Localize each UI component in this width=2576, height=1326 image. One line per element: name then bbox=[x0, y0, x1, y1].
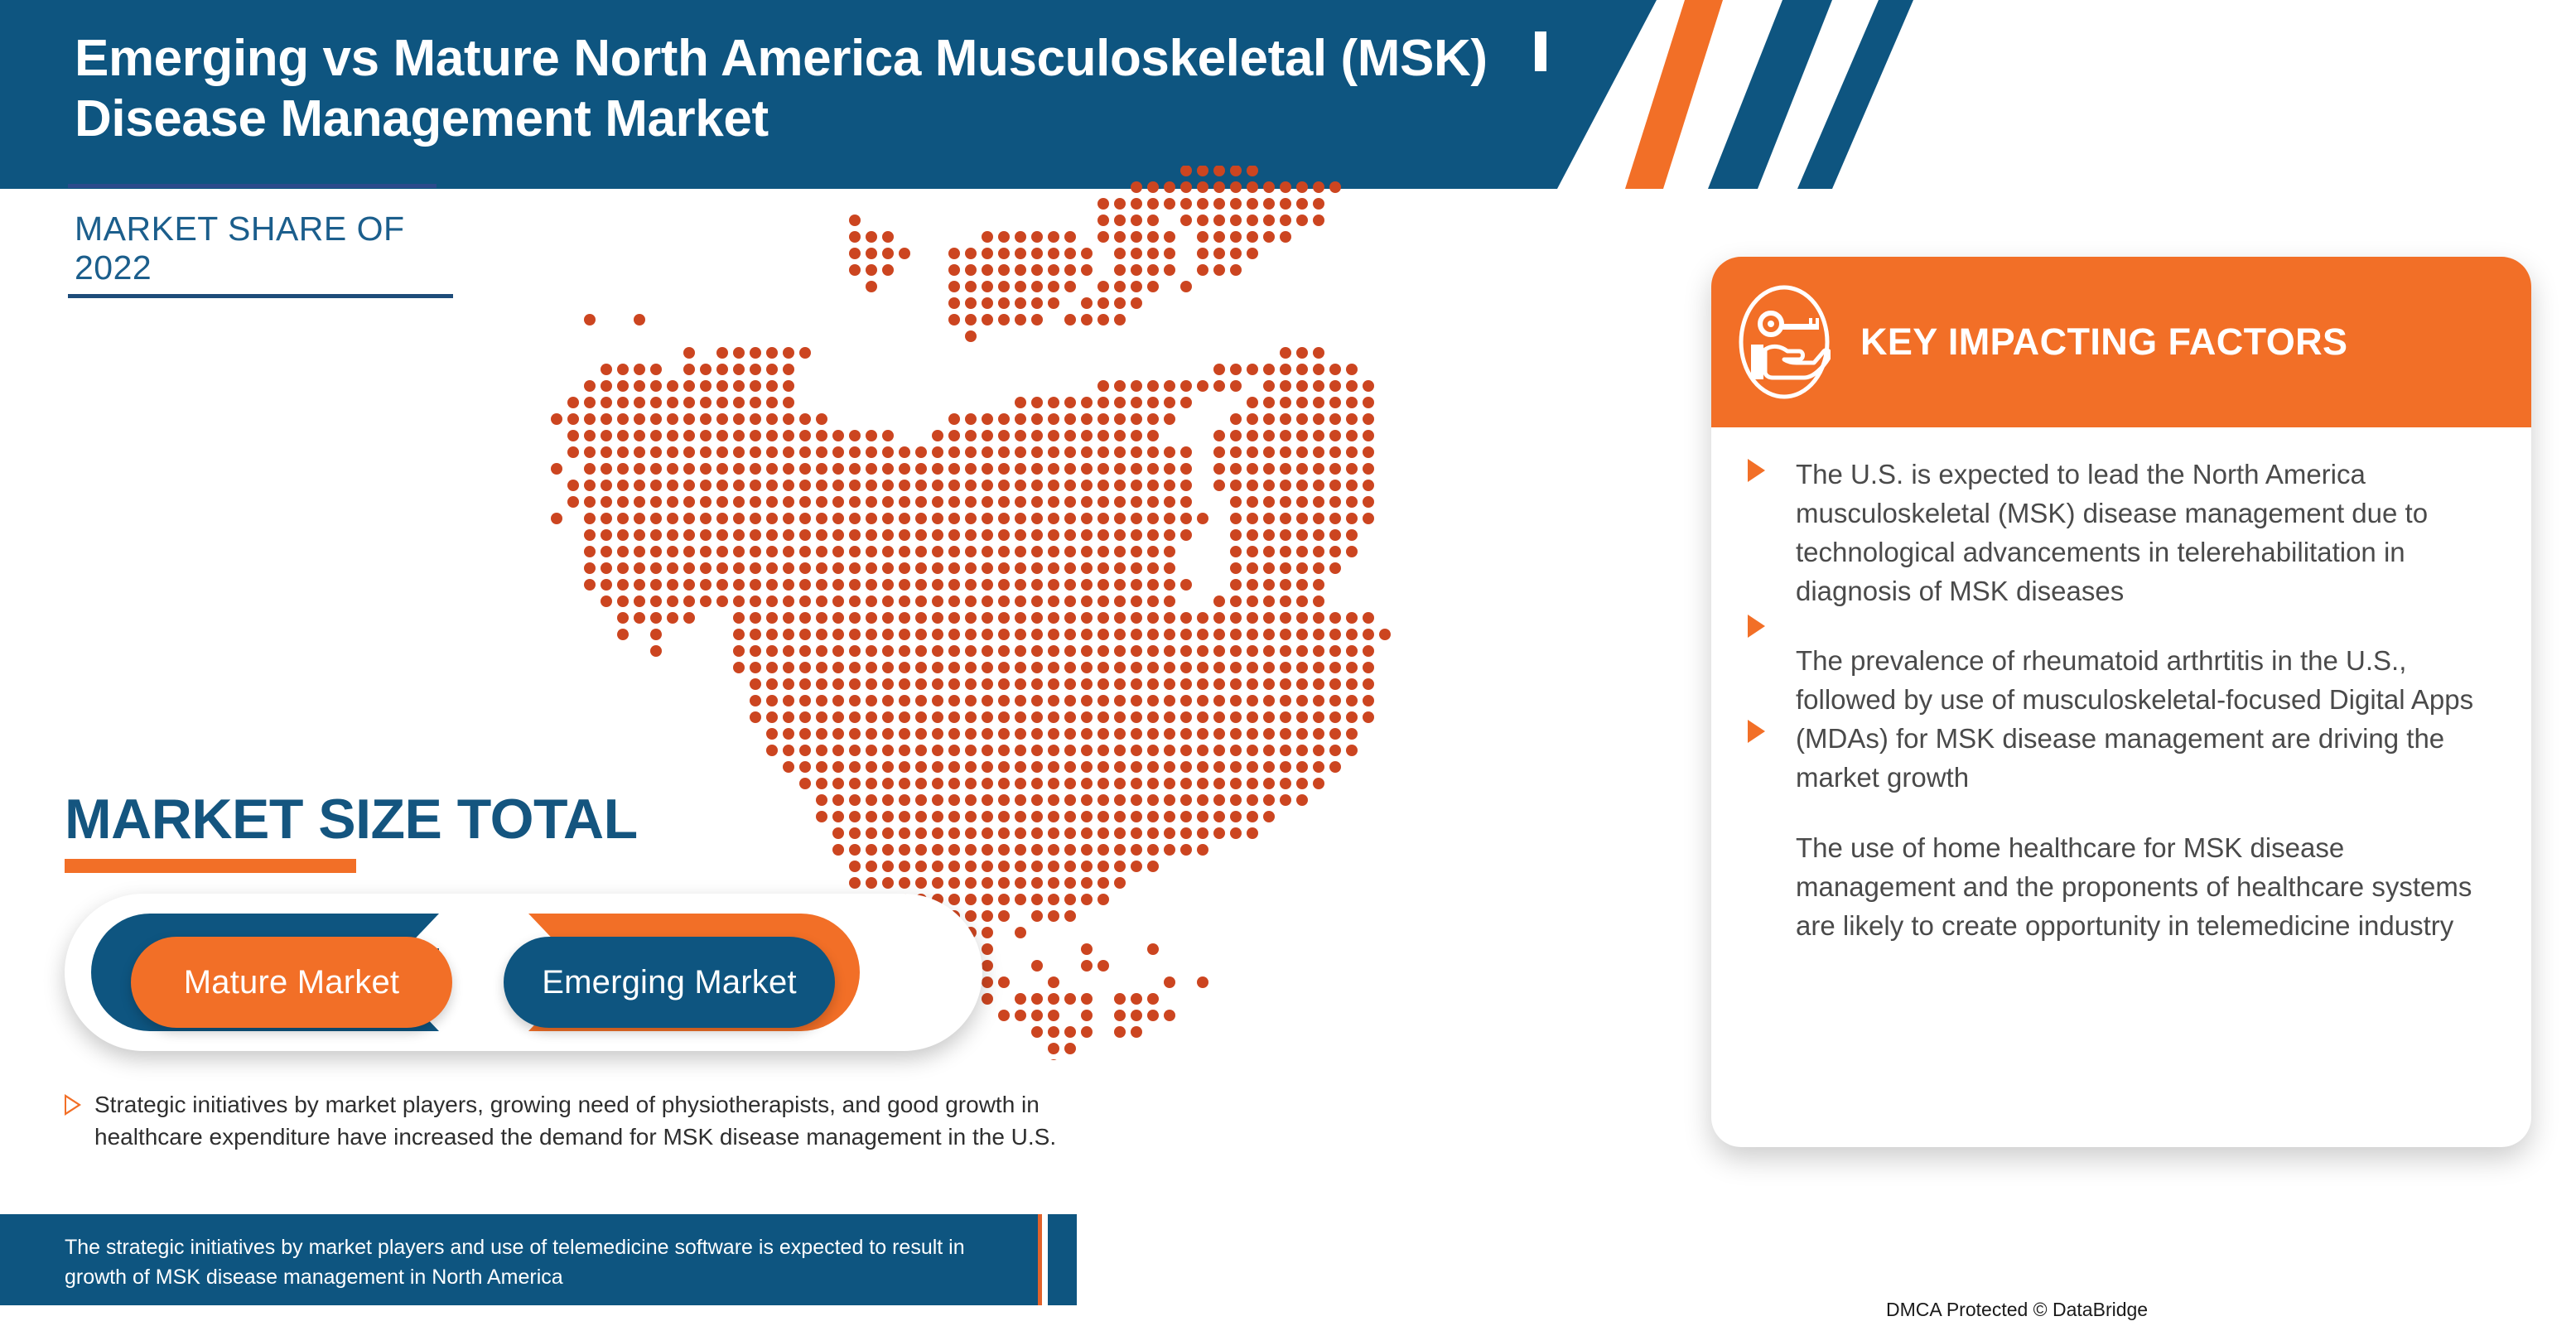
market-size-total-title: MARKET SIZE TOTAL bbox=[65, 791, 976, 847]
triangle-bullet-icon bbox=[65, 1094, 81, 1116]
key-factor-text: The U.S. is expected to lead the North A… bbox=[1796, 456, 2495, 610]
triangle-bullet-icon bbox=[1748, 615, 1765, 638]
page-title: Emerging vs Mature North America Musculo… bbox=[75, 28, 1607, 149]
infographic-canvas: Emerging vs Mature North America Musculo… bbox=[0, 0, 2576, 1326]
footer-text: The strategic initiatives by market play… bbox=[65, 1232, 976, 1293]
key-factor-text: The use of home healthcare for MSK disea… bbox=[1796, 829, 2495, 946]
market-share-label: MARKET SHARE OF 2022 bbox=[68, 188, 457, 294]
market-share-rule-bottom bbox=[68, 294, 453, 298]
key-impacting-factors-body: The U.S. is expected to lead the North A… bbox=[1711, 427, 2531, 976]
market-size-total-block: MARKET SIZE TOTAL bbox=[65, 791, 976, 873]
header-banner: Emerging vs Mature North America Musculo… bbox=[0, 0, 1922, 189]
key-impacting-factors-panel: KEY IMPACTING FACTORS The U.S. is expect… bbox=[1711, 257, 2531, 1147]
emerging-market-group[interactable]: Emerging Market bbox=[495, 914, 860, 1031]
mature-market-pill[interactable]: Mature Market bbox=[131, 937, 452, 1028]
key-in-hand-icon bbox=[1738, 283, 1831, 401]
copyright-notice: DMCA Protected © DataBridge bbox=[1886, 1299, 2148, 1321]
market-size-total-underline bbox=[65, 859, 356, 873]
mature-market-group[interactable]: Mature Market bbox=[91, 914, 439, 1031]
key-factor-text: The prevalence of rheumatoid arthrtitis … bbox=[1796, 642, 2495, 797]
header-notch bbox=[1535, 31, 1546, 71]
triangle-bullet-icon bbox=[1748, 459, 1765, 482]
market-size-pill-container: Mature Market Emerging Market bbox=[65, 894, 982, 1051]
footer-divider-white bbox=[1042, 1214, 1048, 1305]
footer-bar: The strategic initiatives by market play… bbox=[0, 1214, 1077, 1305]
market-size-note-text: Strategic initiatives by market players,… bbox=[94, 1089, 1092, 1153]
key-impacting-factors-title: KEY IMPACTING FACTORS bbox=[1860, 321, 2347, 364]
key-factor-item: The prevalence of rheumatoid arthrtitis … bbox=[1744, 642, 2495, 797]
triangle-bullet-icon bbox=[1748, 720, 1765, 743]
key-impacting-factors-header: KEY IMPACTING FACTORS bbox=[1711, 257, 2531, 427]
market-size-note: Strategic initiatives by market players,… bbox=[65, 1089, 1092, 1153]
market-share-label-block: MARKET SHARE OF 2022 bbox=[68, 184, 457, 298]
emerging-market-pill[interactable]: Emerging Market bbox=[504, 937, 835, 1028]
key-factor-item: The U.S. is expected to lead the North A… bbox=[1744, 456, 2495, 610]
key-factor-item: The use of home healthcare for MSK disea… bbox=[1744, 829, 2495, 946]
